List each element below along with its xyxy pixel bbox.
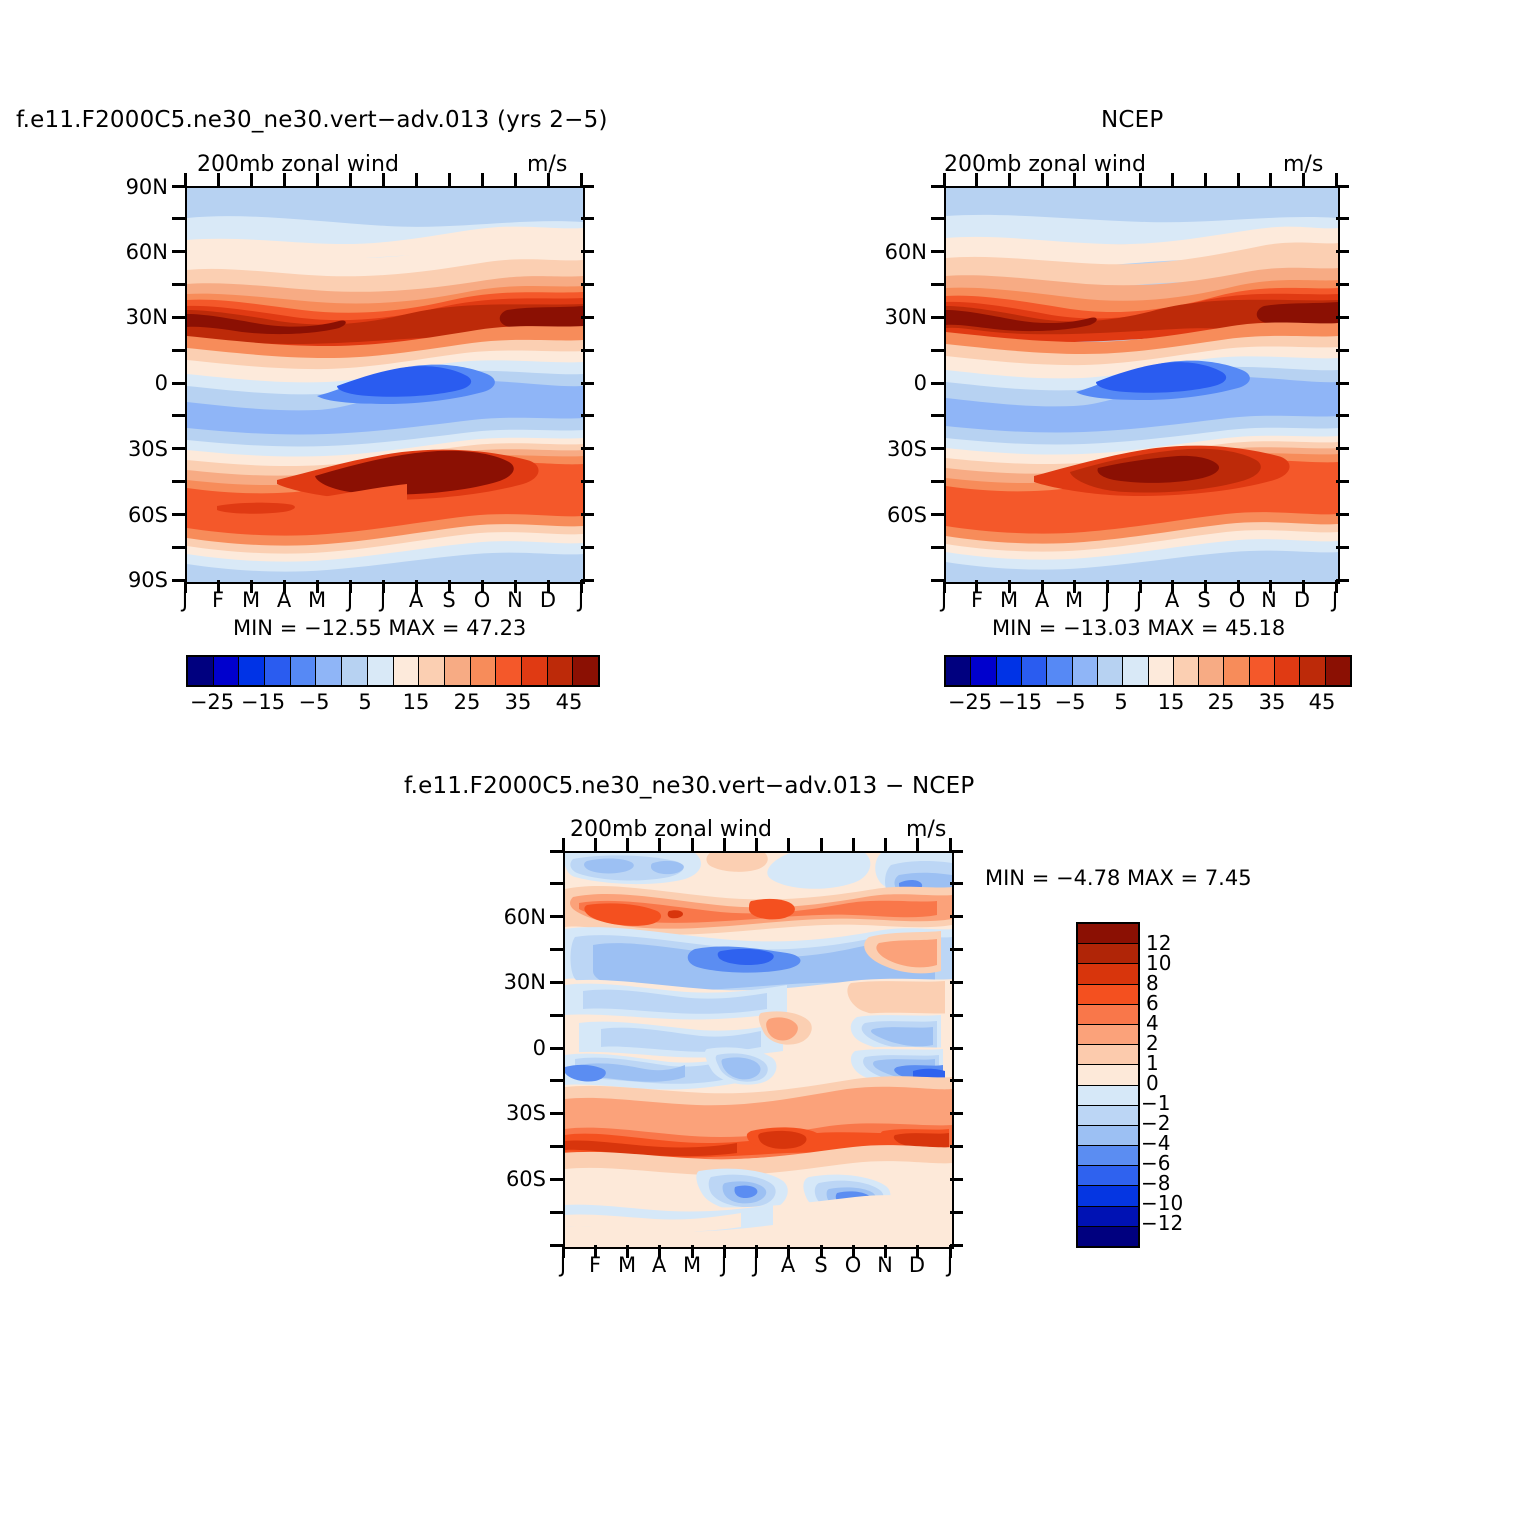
x-tick-bottom xyxy=(884,1245,887,1258)
y-tick-left xyxy=(931,316,944,319)
y-tick-left xyxy=(931,447,944,450)
y-tick-left xyxy=(931,546,944,549)
model-colorbar[interactable] xyxy=(186,655,600,687)
y-tick-right xyxy=(581,349,594,352)
colorbar-cell xyxy=(1250,657,1275,685)
y-tick-left xyxy=(550,1178,563,1181)
colorbar-cell xyxy=(291,657,317,685)
obs-cbar-label-7: 45 xyxy=(1292,690,1352,714)
x-tick-top xyxy=(283,173,286,186)
y-tick-right xyxy=(1336,349,1349,352)
y-tick-right xyxy=(1336,250,1349,253)
y-tick-right xyxy=(1336,217,1349,220)
y-tick-left xyxy=(550,981,563,984)
colorbar-cell xyxy=(1078,1126,1138,1146)
obs-minmax-label: MIN = −13.03 MAX = 45.18 xyxy=(992,616,1285,640)
colorbar-cell xyxy=(1326,657,1350,685)
y-tick-right xyxy=(581,185,594,188)
x-tick-top xyxy=(1237,173,1240,186)
obs-colorbar[interactable] xyxy=(944,655,1352,687)
x-tick-top xyxy=(481,173,484,186)
model-ytick-60n: 60N xyxy=(120,240,168,264)
diff-subtitle-units: m/s xyxy=(906,817,946,842)
colorbar-cell xyxy=(1078,1146,1138,1166)
colorbar-cell xyxy=(1022,657,1047,685)
y-tick-right xyxy=(1336,316,1349,319)
obs-ytick-30n: 30N xyxy=(879,305,927,329)
colorbar-cell xyxy=(1078,1207,1138,1227)
y-tick-right xyxy=(950,882,963,885)
y-tick-right xyxy=(950,1047,963,1050)
y-tick-right xyxy=(950,948,963,951)
model-panel-title: f.e11.F2000C5.ne30_ne30.vert−adv.013 (yr… xyxy=(16,107,608,133)
colorbar-cell xyxy=(1123,657,1148,685)
colorbar-cell xyxy=(1073,657,1098,685)
y-tick-right xyxy=(581,250,594,253)
x-tick-bottom xyxy=(1106,580,1109,593)
x-tick-bottom xyxy=(514,580,517,593)
colorbar-cell xyxy=(1098,657,1123,685)
x-tick-top xyxy=(626,838,629,851)
y-tick-right xyxy=(581,579,594,582)
y-tick-left xyxy=(172,513,185,516)
y-tick-left xyxy=(172,185,185,188)
colorbar-cell xyxy=(265,657,291,685)
x-tick-bottom xyxy=(217,580,220,593)
model-contour-svg xyxy=(187,188,583,582)
y-tick-left xyxy=(550,1145,563,1148)
x-tick-top xyxy=(415,173,418,186)
colorbar-cell xyxy=(1078,1005,1138,1025)
x-tick-bottom xyxy=(949,1245,952,1258)
y-tick-left xyxy=(550,1211,563,1214)
x-tick-bottom xyxy=(448,580,451,593)
y-tick-left xyxy=(550,1112,563,1115)
y-tick-right xyxy=(950,850,963,853)
x-tick-bottom xyxy=(415,580,418,593)
y-tick-left xyxy=(172,283,185,286)
y-tick-left xyxy=(931,217,944,220)
diff-ytick-60s: 60S xyxy=(498,1167,546,1191)
y-tick-right xyxy=(950,1079,963,1082)
colorbar-cell xyxy=(1078,1025,1138,1045)
diff-ytick-30n: 30N xyxy=(498,970,546,994)
x-tick-top xyxy=(316,173,319,186)
x-tick-bottom xyxy=(562,1245,565,1258)
y-tick-right xyxy=(950,1112,963,1115)
x-tick-top xyxy=(787,838,790,851)
y-tick-right xyxy=(581,283,594,286)
x-tick-bottom xyxy=(1171,580,1174,593)
y-tick-right xyxy=(1336,513,1349,516)
x-tick-bottom xyxy=(691,1245,694,1258)
y-tick-left xyxy=(550,850,563,853)
x-tick-bottom xyxy=(1041,580,1044,593)
x-tick-bottom xyxy=(975,580,978,593)
x-tick-top xyxy=(217,173,220,186)
x-tick-top xyxy=(1204,173,1207,186)
y-tick-left xyxy=(172,414,185,417)
y-tick-right xyxy=(950,981,963,984)
colorbar-cell xyxy=(1275,657,1300,685)
x-tick-bottom xyxy=(349,580,352,593)
x-tick-top xyxy=(1041,173,1044,186)
obs-ytick-0: 0 xyxy=(879,371,927,395)
x-tick-bottom xyxy=(1139,580,1142,593)
y-tick-left xyxy=(931,250,944,253)
y-tick-left xyxy=(172,546,185,549)
y-tick-left xyxy=(172,250,185,253)
y-tick-right xyxy=(1336,480,1349,483)
x-tick-top xyxy=(658,838,661,851)
y-tick-left xyxy=(172,349,185,352)
y-tick-left xyxy=(931,480,944,483)
diff-colorbar[interactable] xyxy=(1076,922,1140,1248)
x-tick-bottom xyxy=(594,1245,597,1258)
y-tick-right xyxy=(581,480,594,483)
y-tick-right xyxy=(950,1145,963,1148)
x-tick-bottom xyxy=(250,580,253,593)
colorbar-cell xyxy=(1224,657,1249,685)
y-tick-left xyxy=(550,915,563,918)
colorbar-cell xyxy=(496,657,522,685)
colorbar-cell xyxy=(1174,657,1199,685)
obs-contour-svg xyxy=(946,188,1338,582)
diff-cbar-label-14: −12 xyxy=(1141,1211,1183,1235)
y-tick-left xyxy=(931,414,944,417)
x-tick-top xyxy=(884,838,887,851)
colorbar-cell xyxy=(573,657,598,685)
diff-ytick-0: 0 xyxy=(498,1036,546,1060)
colorbar-cell xyxy=(316,657,342,685)
colorbar-cell xyxy=(971,657,996,685)
model-minmax-label: MIN = −12.55 MAX = 47.23 xyxy=(233,616,526,640)
colorbar-cell xyxy=(1078,944,1138,964)
x-tick-bottom xyxy=(1008,580,1011,593)
model-ytick-0: 0 xyxy=(120,371,168,395)
obs-ytick-60n: 60N xyxy=(879,240,927,264)
x-tick-bottom xyxy=(626,1245,629,1258)
x-tick-bottom xyxy=(820,1245,823,1258)
x-tick-bottom xyxy=(943,580,946,593)
colorbar-cell xyxy=(1078,1045,1138,1065)
colorbar-cell xyxy=(522,657,548,685)
y-tick-right xyxy=(1336,382,1349,385)
y-tick-right xyxy=(950,1244,963,1247)
x-tick-bottom xyxy=(1073,580,1076,593)
x-tick-top xyxy=(594,838,597,851)
colorbar-cell xyxy=(342,657,368,685)
x-tick-top xyxy=(547,173,550,186)
colorbar-cell xyxy=(548,657,574,685)
colorbar-cell xyxy=(946,657,971,685)
x-tick-bottom xyxy=(580,580,583,593)
y-tick-right xyxy=(950,1178,963,1181)
x-tick-top xyxy=(755,838,758,851)
y-tick-left xyxy=(550,882,563,885)
y-tick-left xyxy=(172,382,185,385)
x-tick-top xyxy=(1302,173,1305,186)
colorbar-cell xyxy=(1149,657,1174,685)
model-subtitle-field: 200mb zonal wind xyxy=(197,152,399,177)
y-tick-right xyxy=(581,217,594,220)
colorbar-cell xyxy=(419,657,445,685)
x-tick-top xyxy=(1171,173,1174,186)
y-tick-left xyxy=(550,1079,563,1082)
colorbar-cell xyxy=(1300,657,1325,685)
colorbar-cell xyxy=(1078,1227,1138,1246)
x-tick-top xyxy=(250,173,253,186)
diff-panel-title: f.e11.F2000C5.ne30_ne30.vert−adv.013 − N… xyxy=(404,773,974,799)
model-contour-plot[interactable] xyxy=(185,186,585,584)
diff-minmax-label: MIN = −4.78 MAX = 7.45 xyxy=(985,866,1252,890)
diff-contour-plot[interactable] xyxy=(563,851,954,1249)
y-tick-left xyxy=(550,948,563,951)
obs-contour-plot[interactable] xyxy=(944,186,1340,584)
x-tick-bottom xyxy=(1237,580,1240,593)
model-ytick-30s: 30S xyxy=(120,437,168,461)
y-tick-left xyxy=(931,283,944,286)
y-tick-right xyxy=(1336,414,1349,417)
y-tick-left xyxy=(172,447,185,450)
x-tick-top xyxy=(1073,173,1076,186)
x-tick-top xyxy=(382,173,385,186)
y-tick-left xyxy=(172,579,185,582)
y-tick-left xyxy=(931,349,944,352)
colorbar-cell xyxy=(445,657,471,685)
x-tick-top xyxy=(916,838,919,851)
colorbar-cell xyxy=(1078,1166,1138,1186)
diff-ytick-60n: 60N xyxy=(498,905,546,929)
x-tick-bottom xyxy=(916,1245,919,1258)
y-tick-right xyxy=(1336,185,1349,188)
y-tick-left xyxy=(172,316,185,319)
model-ytick-90s: 90S xyxy=(120,568,168,592)
x-tick-bottom xyxy=(547,580,550,593)
y-tick-right xyxy=(1336,447,1349,450)
x-tick-top xyxy=(1106,173,1109,186)
y-tick-left xyxy=(172,480,185,483)
y-tick-right xyxy=(581,513,594,516)
y-tick-right xyxy=(581,447,594,450)
y-tick-right xyxy=(581,546,594,549)
colorbar-cell xyxy=(214,657,240,685)
obs-ytick-60s: 60S xyxy=(879,503,927,527)
colorbar-cell xyxy=(368,657,394,685)
y-tick-left xyxy=(550,1244,563,1247)
colorbar-cell xyxy=(1078,985,1138,1005)
y-tick-right xyxy=(581,316,594,319)
x-tick-top xyxy=(820,838,823,851)
x-tick-top xyxy=(691,838,694,851)
colorbar-cell xyxy=(1047,657,1072,685)
y-tick-left xyxy=(550,1014,563,1017)
x-tick-top xyxy=(448,173,451,186)
y-tick-right xyxy=(1336,579,1349,582)
colorbar-cell xyxy=(239,657,265,685)
x-tick-bottom xyxy=(316,580,319,593)
y-tick-left xyxy=(931,579,944,582)
y-tick-right xyxy=(950,1014,963,1017)
x-tick-bottom xyxy=(1335,580,1338,593)
x-tick-bottom xyxy=(787,1245,790,1258)
diff-ytick-30s: 30S xyxy=(498,1101,546,1125)
x-tick-top xyxy=(723,838,726,851)
y-tick-right xyxy=(950,1211,963,1214)
model-ytick-60s: 60S xyxy=(120,503,168,527)
x-tick-bottom xyxy=(658,1245,661,1258)
obs-panel-title: NCEP xyxy=(1101,107,1163,133)
x-tick-bottom xyxy=(184,580,187,593)
x-tick-top xyxy=(514,173,517,186)
x-tick-top xyxy=(1139,173,1142,186)
y-tick-left xyxy=(172,217,185,220)
y-tick-right xyxy=(581,382,594,385)
colorbar-cell xyxy=(394,657,420,685)
obs-ytick-30s: 30S xyxy=(879,437,927,461)
y-tick-left xyxy=(550,1047,563,1050)
colorbar-cell xyxy=(1078,1106,1138,1126)
diff-contour-svg xyxy=(565,853,952,1247)
x-tick-top xyxy=(349,173,352,186)
y-tick-right xyxy=(581,414,594,417)
diff-subtitle-field: 200mb zonal wind xyxy=(570,817,772,842)
x-tick-bottom xyxy=(1204,580,1207,593)
colorbar-cell xyxy=(1078,1086,1138,1106)
model-ytick-90n: 90N xyxy=(120,175,168,199)
colorbar-cell xyxy=(1078,924,1138,944)
x-tick-bottom xyxy=(283,580,286,593)
x-tick-bottom xyxy=(723,1245,726,1258)
colorbar-cell xyxy=(1199,657,1224,685)
colorbar-cell xyxy=(997,657,1022,685)
colorbar-cell xyxy=(1078,964,1138,984)
x-tick-bottom xyxy=(755,1245,758,1258)
x-tick-bottom xyxy=(1269,580,1272,593)
model-ytick-30n: 30N xyxy=(120,305,168,329)
colorbar-cell xyxy=(471,657,497,685)
model-cbar-label-7: 45 xyxy=(539,690,599,714)
x-tick-top xyxy=(852,838,855,851)
y-tick-right xyxy=(950,915,963,918)
x-tick-top xyxy=(1269,173,1272,186)
y-tick-left xyxy=(931,382,944,385)
x-tick-bottom xyxy=(1302,580,1305,593)
colorbar-cell xyxy=(188,657,214,685)
y-tick-right xyxy=(1336,546,1349,549)
x-tick-top xyxy=(1008,173,1011,186)
y-tick-left xyxy=(931,513,944,516)
colorbar-cell xyxy=(1078,1186,1138,1206)
colorbar-cell xyxy=(1078,1065,1138,1085)
y-tick-left xyxy=(931,185,944,188)
x-tick-top xyxy=(975,173,978,186)
y-tick-right xyxy=(1336,283,1349,286)
x-tick-bottom xyxy=(852,1245,855,1258)
x-tick-bottom xyxy=(481,580,484,593)
x-tick-bottom xyxy=(382,580,385,593)
